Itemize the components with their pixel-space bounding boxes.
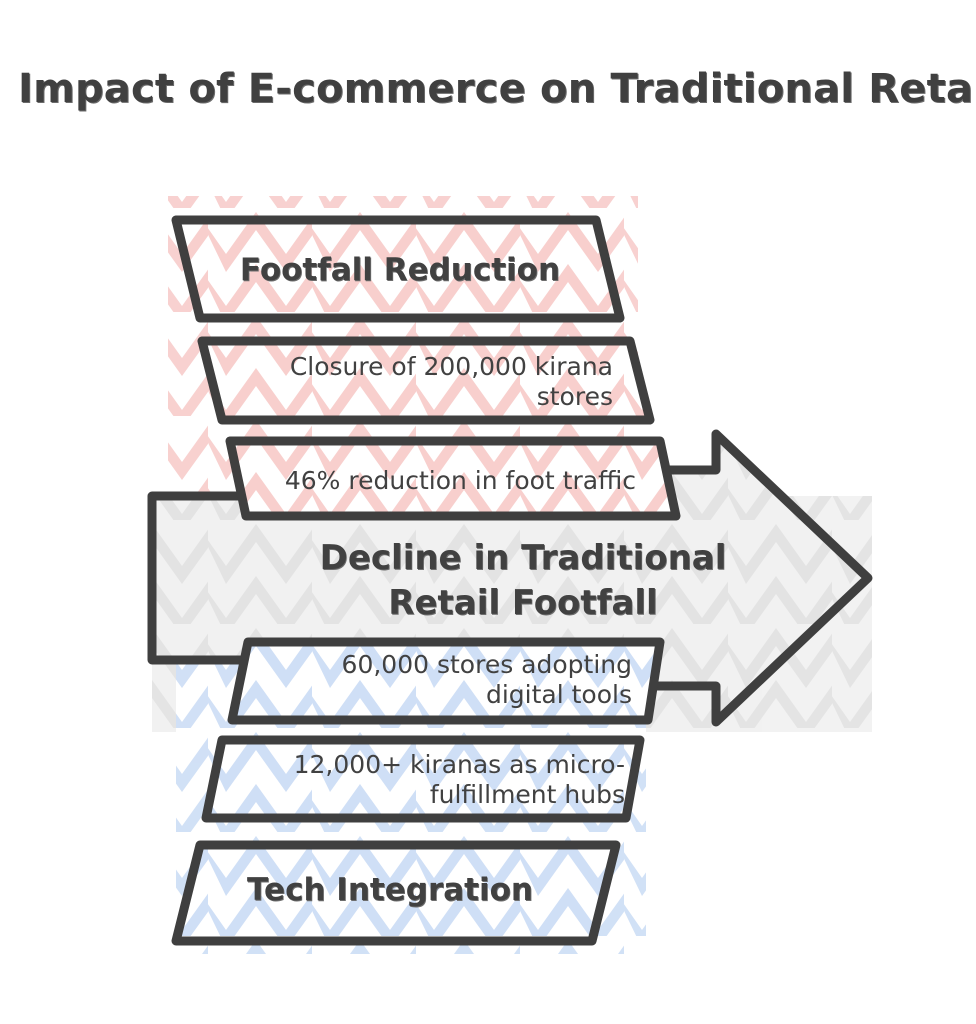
micro-fulfillment-shape[interactable] bbox=[206, 740, 640, 818]
diagram-shapes bbox=[0, 0, 976, 1024]
digital-tools-shape[interactable] bbox=[232, 642, 660, 720]
tech-integration-shape[interactable] bbox=[176, 845, 616, 941]
footfall-reduction-shape[interactable] bbox=[176, 220, 620, 318]
closure-stores-shape[interactable] bbox=[202, 341, 650, 420]
infographic-canvas: Impact of E-commerce on Traditional Reta… bbox=[0, 0, 976, 1024]
foot-traffic-shape[interactable] bbox=[230, 441, 676, 516]
